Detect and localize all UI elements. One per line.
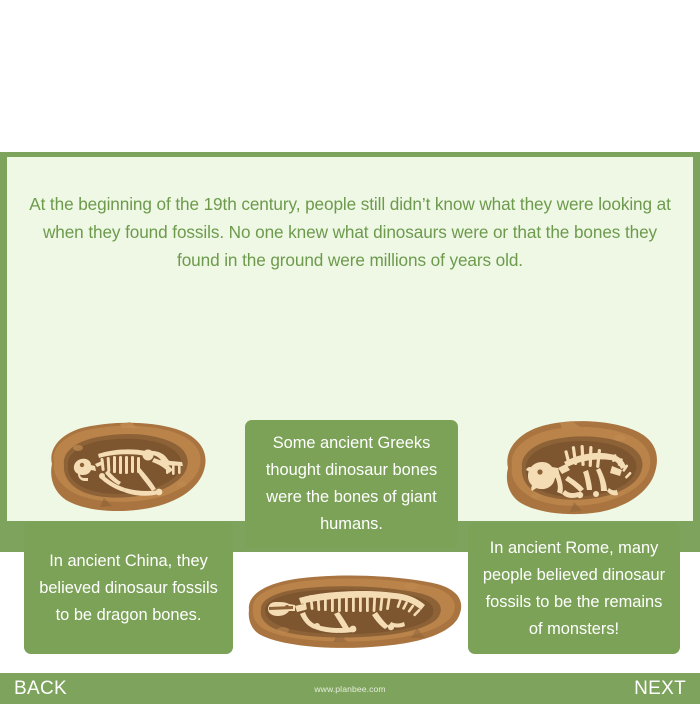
slide-frame: At the beginning of the 19th century, pe… <box>0 152 700 552</box>
fact-box-greeks: Some ancient Greeks thought dinosaur bon… <box>245 420 458 548</box>
site-url-label: www.planbee.com <box>0 684 700 694</box>
curled-dinosaur-fossil-image <box>42 418 210 514</box>
fact-box-china: In ancient China, they believed dinosaur… <box>24 522 233 654</box>
intro-paragraph: At the beginning of the 19th century, pe… <box>25 190 675 274</box>
next-button[interactable]: NEXT <box>634 673 686 704</box>
triceratops-fossil-image <box>500 418 662 516</box>
long-snouted-dinosaur-fossil-image <box>243 566 466 658</box>
fact-box-rome: In ancient Rome, many people believed di… <box>468 523 680 654</box>
